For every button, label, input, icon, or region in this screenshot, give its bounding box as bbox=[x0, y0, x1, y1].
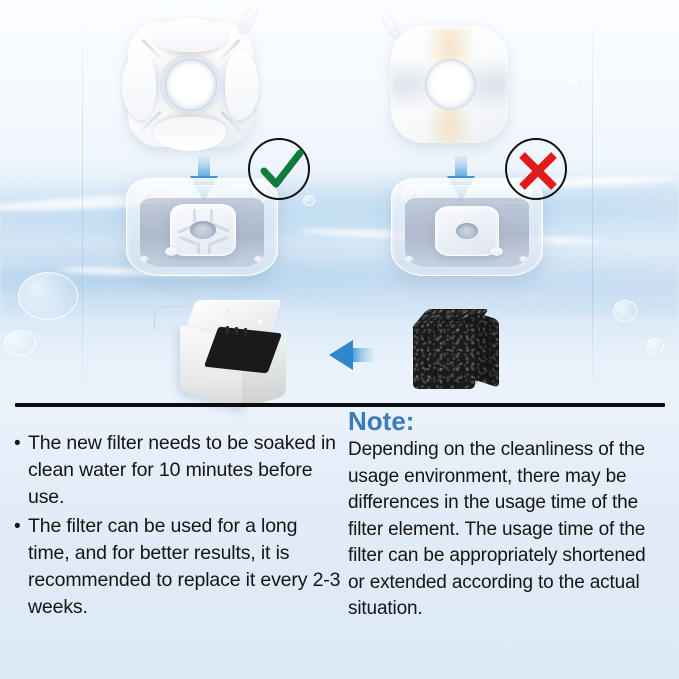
product-instruction-image: • The new filter needs to be soaked in c… bbox=[0, 0, 679, 679]
insert-ray bbox=[210, 236, 229, 246]
water-vertical-streak bbox=[592, 0, 593, 400]
tray-insert-correct bbox=[170, 204, 236, 256]
pump-vent-slot bbox=[235, 327, 238, 335]
filter-pad-center-hole bbox=[166, 60, 216, 110]
pump-vent-slot bbox=[226, 326, 229, 334]
insert-ray bbox=[210, 209, 213, 222]
water-bubble bbox=[613, 300, 637, 322]
tray-screw bbox=[519, 256, 528, 262]
pump-screw bbox=[256, 320, 265, 326]
water-bubble bbox=[4, 330, 36, 356]
water-bubble bbox=[646, 338, 664, 354]
filter-pad-tab bbox=[382, 14, 401, 39]
instructions-column: • The new filter needs to be soaked in c… bbox=[14, 430, 344, 623]
water-bubble bbox=[568, 76, 584, 91]
insert-core bbox=[190, 221, 216, 239]
tray-screw bbox=[142, 192, 151, 198]
insert-ray bbox=[193, 209, 196, 222]
filter-pad-lobe-right bbox=[225, 50, 259, 120]
arrow-shaft bbox=[455, 156, 467, 178]
water-wave-middle bbox=[0, 246, 679, 316]
insert-tab bbox=[165, 247, 178, 256]
filter-pad-lobe-top bbox=[154, 18, 226, 52]
bullet-text: The filter can be used for a long time, … bbox=[28, 513, 344, 621]
note-title: Note: bbox=[348, 406, 666, 436]
arrow-left-icon bbox=[329, 340, 375, 370]
insert-ray bbox=[197, 243, 200, 254]
bullet-text: The new filter needs to be soaked in cle… bbox=[28, 430, 344, 511]
insert-core bbox=[456, 223, 478, 239]
sponge-texture-edge bbox=[408, 306, 504, 396]
carbon-foam-sponge bbox=[413, 315, 503, 393]
tray-screw bbox=[140, 256, 149, 262]
cross-mark-icon bbox=[505, 138, 567, 200]
list-item: • The filter can be used for a long time… bbox=[14, 513, 344, 621]
note-body: Depending on the cleanliness of the usag… bbox=[348, 437, 666, 623]
water-vertical-streak bbox=[82, 0, 83, 400]
water-bubble bbox=[18, 272, 78, 320]
filter-pad-tab bbox=[238, 6, 259, 35]
tray-screw bbox=[407, 192, 416, 198]
pump-screw bbox=[220, 308, 229, 314]
filter-pad-center-hole bbox=[426, 60, 475, 109]
pump-vent-slot bbox=[244, 328, 247, 336]
filter-pad-correct bbox=[128, 22, 253, 147]
insert-tab bbox=[490, 247, 503, 256]
filter-pad-incorrect bbox=[391, 26, 508, 143]
tray-insert-incorrect bbox=[435, 206, 499, 256]
insert-ray bbox=[208, 243, 211, 254]
bullet-marker: • bbox=[14, 430, 28, 457]
arrow-head bbox=[329, 340, 353, 370]
tray-screw bbox=[405, 256, 414, 262]
list-item: • The new filter needs to be soaked in c… bbox=[14, 430, 344, 511]
pump-with-foam-filter bbox=[180, 300, 300, 404]
note-column: Note: Depending on the cleanliness of th… bbox=[348, 406, 666, 623]
tray-screw bbox=[254, 256, 263, 262]
arrow-shaft bbox=[351, 348, 375, 362]
bullet-marker: • bbox=[14, 513, 28, 540]
water-bubble bbox=[650, 46, 663, 58]
arrow-shaft bbox=[198, 156, 210, 178]
filter-pad-lobe-left bbox=[122, 50, 156, 120]
check-mark-icon bbox=[248, 138, 310, 200]
